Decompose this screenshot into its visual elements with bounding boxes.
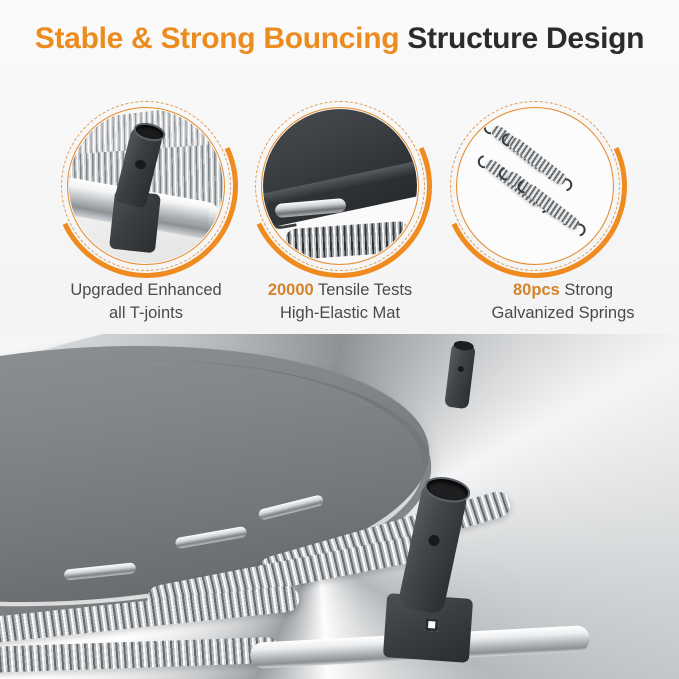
caption-line-1: Upgraded Enhanced [70,281,221,299]
feature-badge-row [0,98,679,288]
feature-badge-springs [447,98,623,274]
caption-springs: 80pcs Strong Galvanized Springs [452,279,674,325]
socket-bolt-hole [427,534,440,547]
page-title: Stable & Strong Bouncing Structure Desig… [0,22,679,56]
caption-line-2: all T-joints [109,304,183,322]
t-joint-photo [69,109,223,263]
hero-trampoline-photo [0,334,679,679]
caption-highlight: 20000 [268,281,314,299]
high-elastic-mat-photo [263,109,417,263]
caption-highlight: 80pcs [513,281,560,299]
feature-caption-row: Upgraded Enhanced all T-joints 20000 Ten… [0,279,679,333]
socket-bolt-hole [458,365,465,372]
page-title-accent: Stable & Strong Bouncing [35,22,399,55]
bracket-bolt-square [424,618,438,632]
caption-mat: 20000 Tensile Tests High-Elastic Mat [232,279,448,325]
galvanized-springs-photo [458,109,612,263]
caption-line-2: High-Elastic Mat [280,304,400,322]
caption-line-1: Strong [560,281,613,299]
page-title-rest: Structure Design [399,22,644,55]
feature-badge-t-joints [58,98,234,274]
infographic-page: Stable & Strong Bouncing Structure Desig… [0,0,679,679]
feature-badge-mat [252,98,428,274]
caption-line-2: Galvanized Springs [491,304,634,322]
caption-line-1: Tensile Tests [314,281,412,299]
